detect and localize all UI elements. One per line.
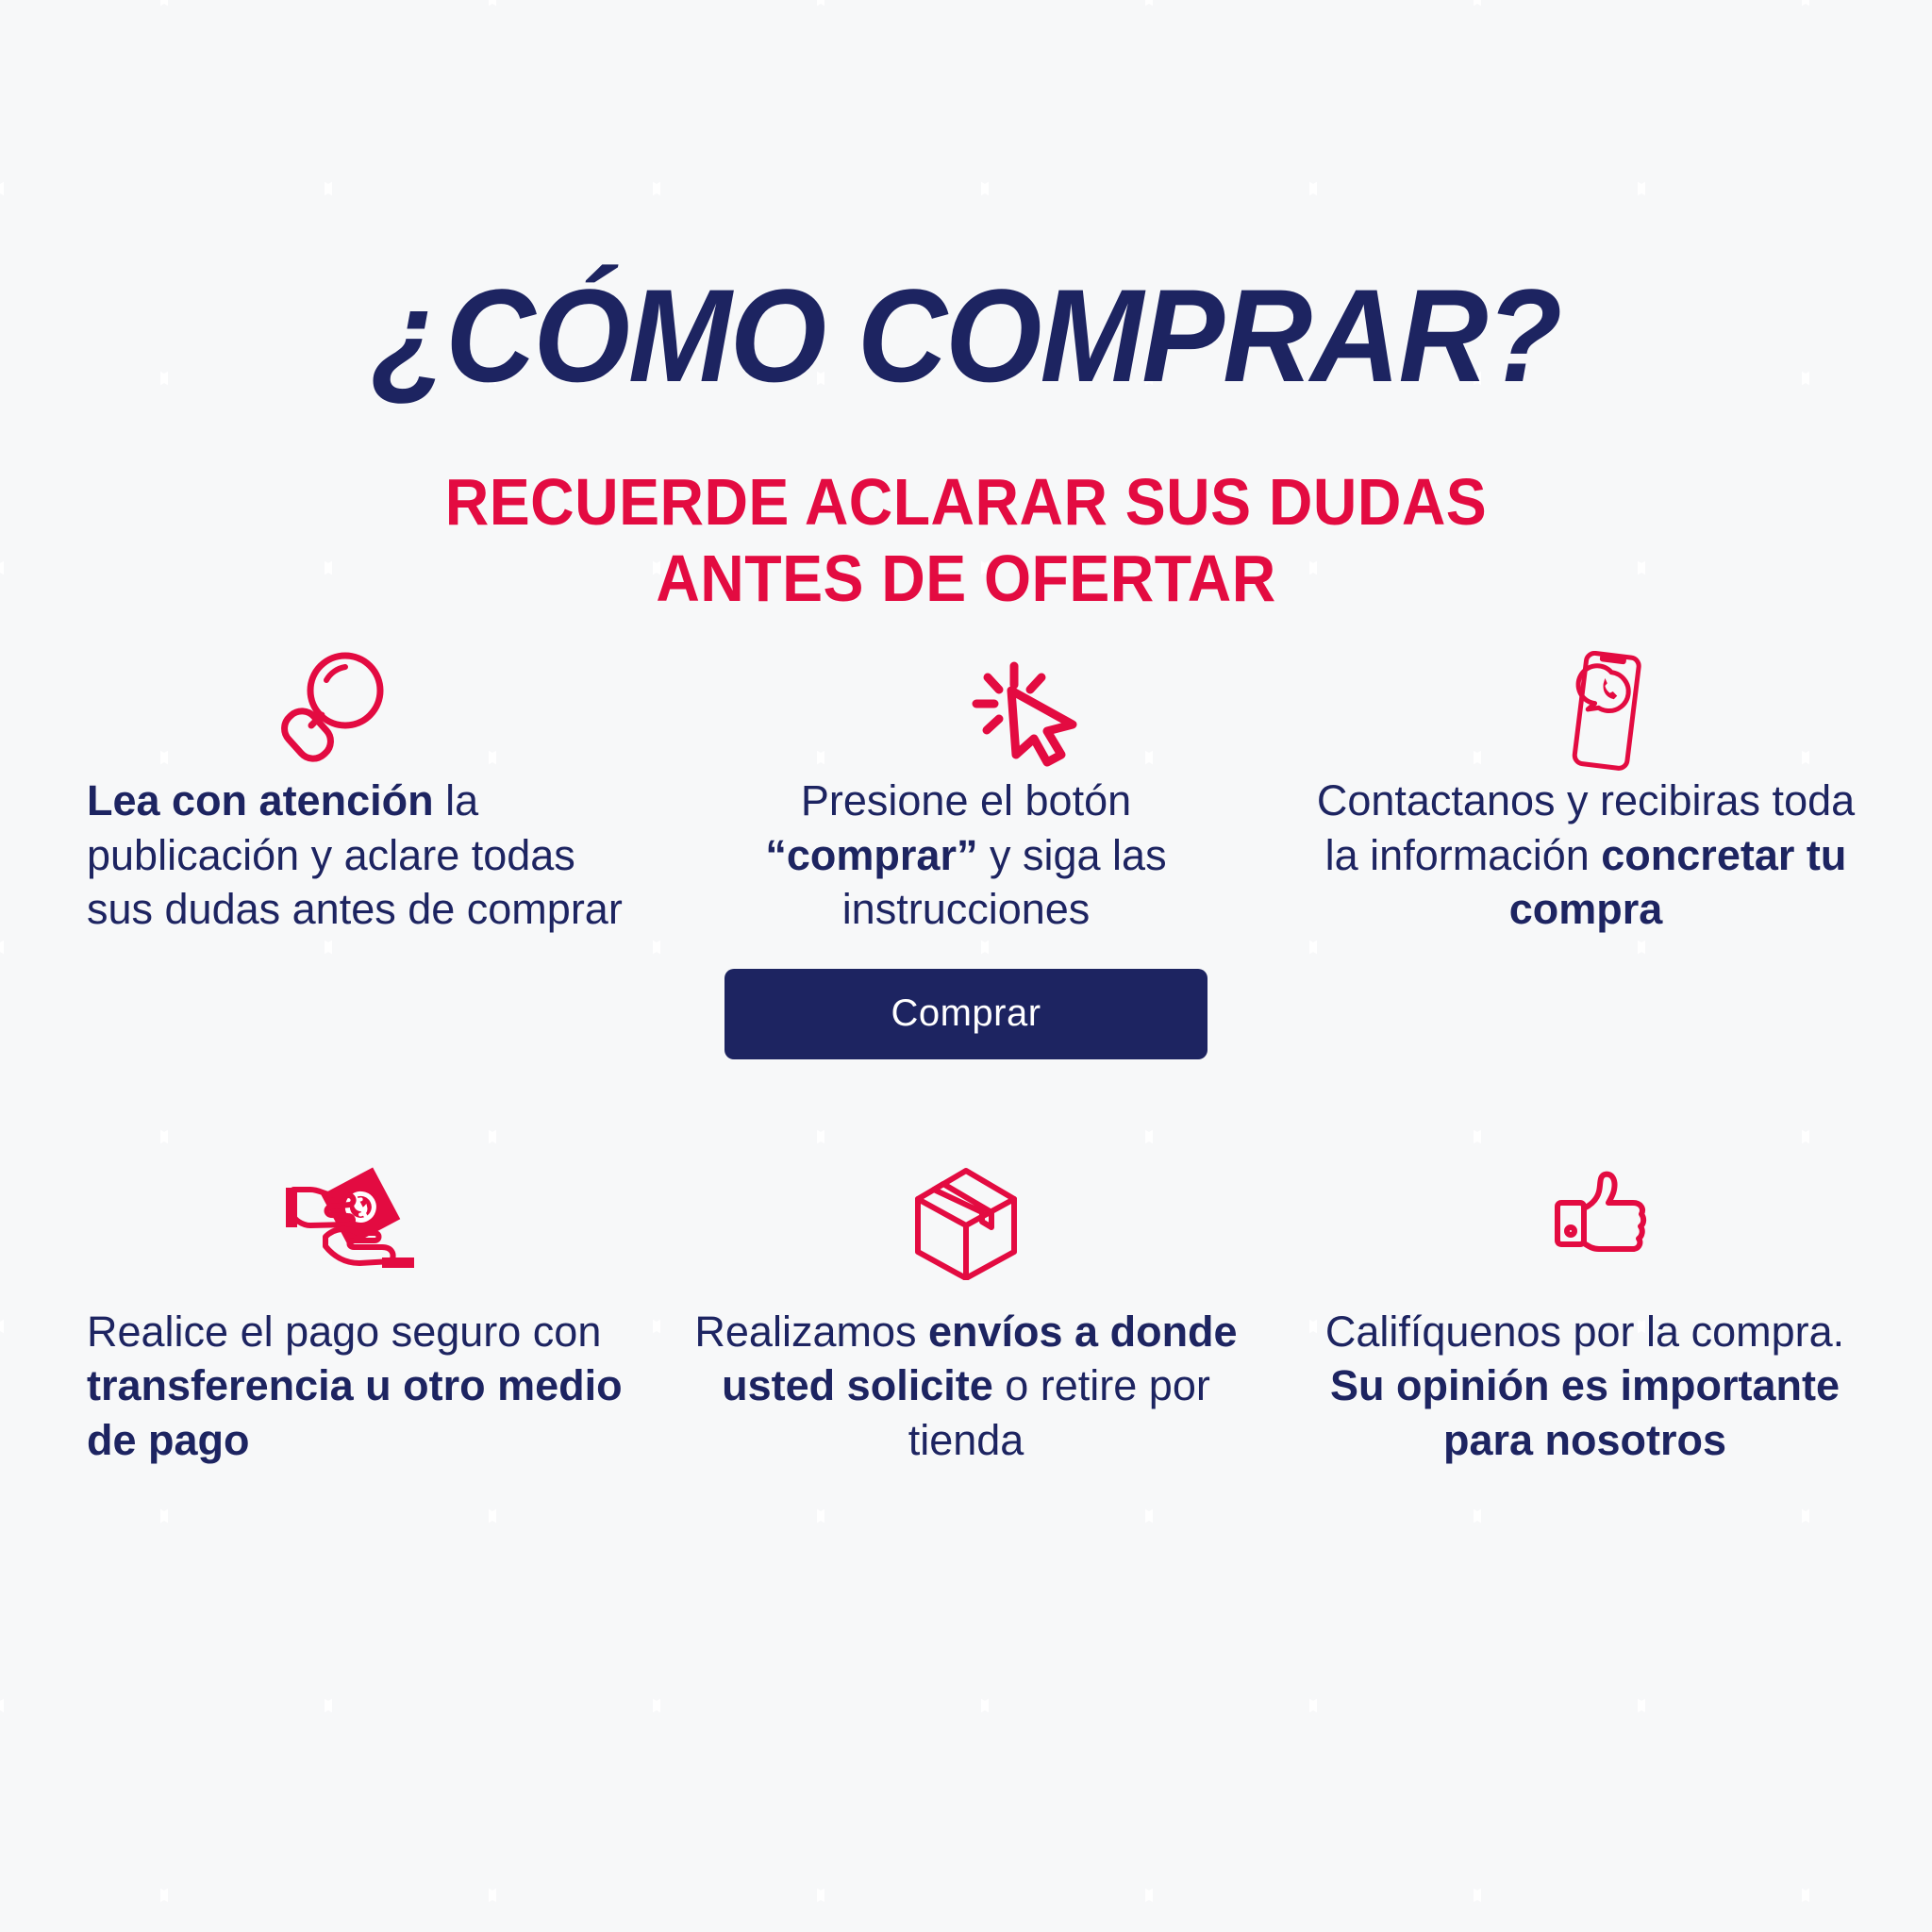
step-5-part1: Realizamos — [694, 1307, 928, 1356]
poster-root: ¿CÓMO COMPRAR? RECUERDE ACLARAR SUS DUDA… — [0, 0, 1932, 1932]
step-2-part1: Presione el botón — [801, 776, 1131, 824]
step-card-secure-payment: Realice el pago seguro con transferencia… — [38, 1158, 657, 1468]
click-cursor-icon — [657, 651, 1275, 774]
step-card-press-buy-text: Presione el botón “comprar” y siga las i… — [657, 774, 1275, 937]
step-card-shipping-text: Realizamos envíos a donde usted solicite… — [657, 1305, 1275, 1468]
comprar-button[interactable]: Comprar — [724, 969, 1207, 1059]
step-6-part1: Califíquenos por la compra. — [1325, 1307, 1844, 1356]
steps-row-top: Lea con atención la publicación y aclare… — [38, 651, 1894, 1059]
package-box-icon — [657, 1158, 1275, 1280]
step-4-plain: Realice el pago seguro con — [87, 1307, 601, 1356]
step-card-rate-us-text: Califíquenos por la compra. Su opinión e… — [1275, 1305, 1894, 1468]
step-card-contact-whatsapp-text: Contactanos y recibiras toda la informac… — [1275, 774, 1894, 937]
whatsapp-phone-icon — [1275, 651, 1894, 774]
step-card-read-carefully-text: Lea con atención la publicación y aclare… — [38, 774, 657, 937]
step-2-bold: “comprar” — [765, 831, 977, 879]
step-1-bold: Lea con atención — [87, 776, 434, 824]
subtitle-line-2: ANTES DE OFERTAR — [77, 541, 1855, 617]
thumbs-up-icon — [1275, 1158, 1894, 1280]
step-card-secure-payment-text: Realice el pago seguro con transferencia… — [38, 1305, 657, 1468]
page-subtitle: RECUERDE ACLARAR SUS DUDAS ANTES DE OFER… — [77, 464, 1855, 617]
steps-grid: Lea con atención la publicación y aclare… — [38, 651, 1894, 1468]
step-card-press-buy: Presione el botón “comprar” y siga las i… — [657, 651, 1275, 1059]
subtitle-line-1: RECUERDE ACLARAR SUS DUDAS — [445, 465, 1487, 539]
step-6-bold: Su opinión es importante para nosotros — [1330, 1361, 1840, 1464]
step-card-contact-whatsapp: Contactanos y recibiras toda la informac… — [1275, 651, 1894, 1059]
magnifier-icon — [38, 651, 657, 774]
step-4-bold: transferencia u otro medio de pago — [87, 1361, 623, 1464]
step-card-read-carefully: Lea con atención la publicación y aclare… — [38, 651, 657, 1059]
step-card-rate-us: Califíquenos por la compra. Su opinión e… — [1275, 1158, 1894, 1468]
cash-payment-icon — [38, 1158, 657, 1280]
page-title: ¿CÓMO COMPRAR? — [58, 270, 1874, 402]
steps-row-bottom: Realice el pago seguro con transferencia… — [38, 1158, 1894, 1468]
step-card-shipping: Realizamos envíos a donde usted solicite… — [657, 1158, 1275, 1468]
